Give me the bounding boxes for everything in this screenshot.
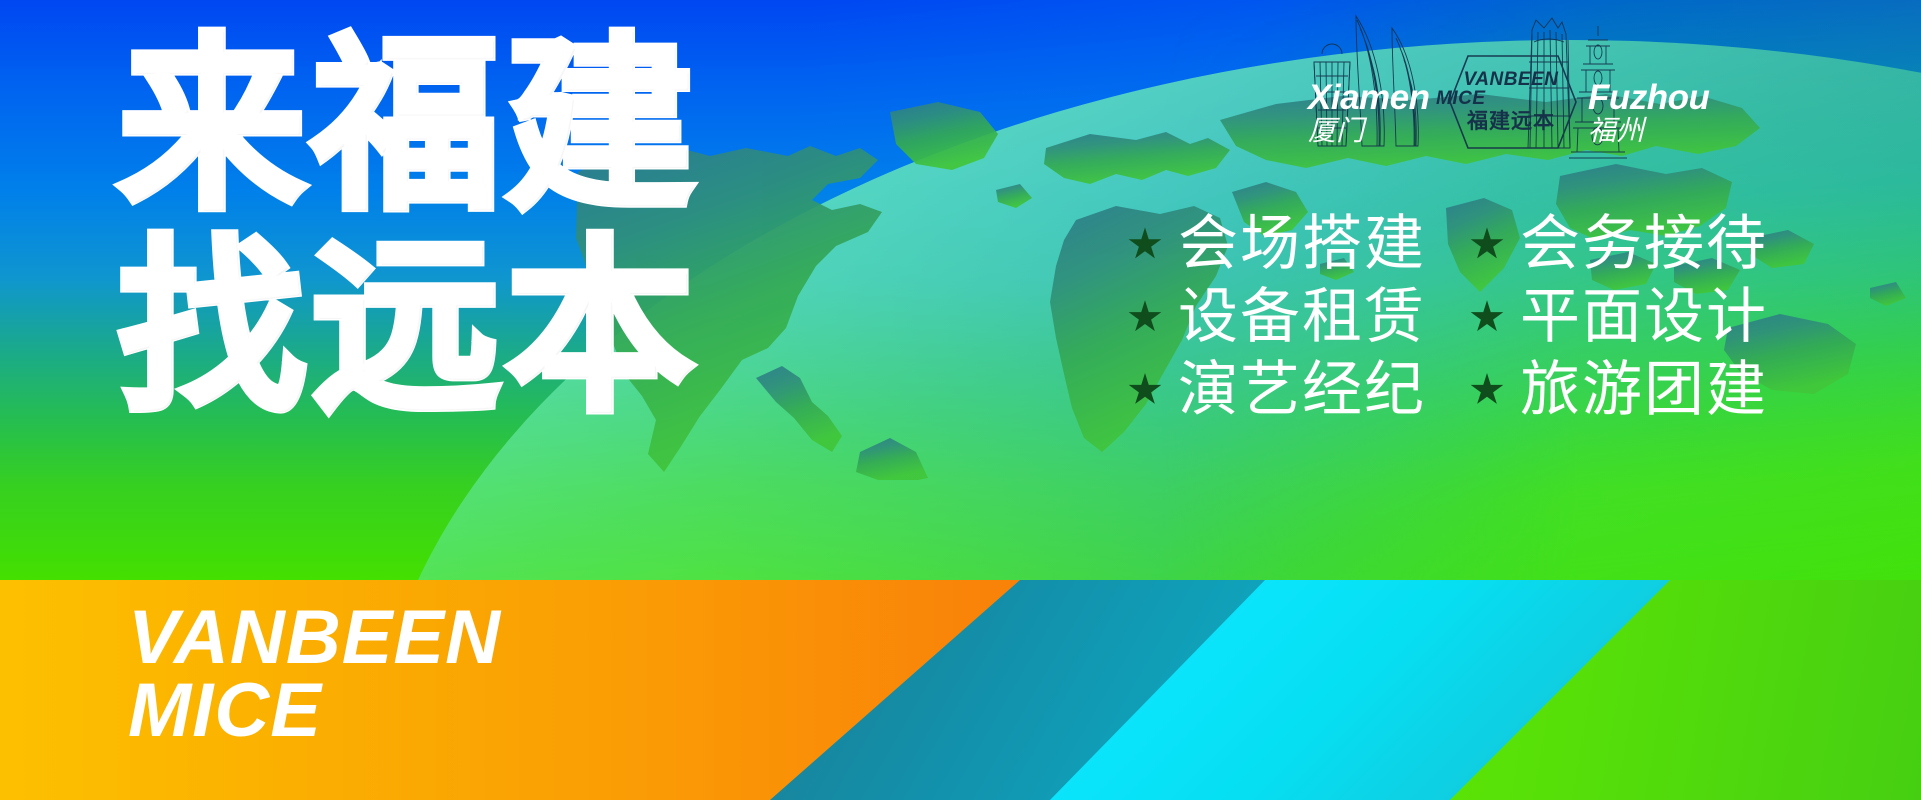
hexagon-brand-line-2: MICE: [1436, 89, 1486, 109]
bottom-brand-bar: VANBEEN MICE: [0, 580, 1921, 800]
headline-line-1: 来福建: [118, 34, 700, 218]
city-name-cn: 福州: [1588, 115, 1709, 147]
service-label: 演艺经纪: [1178, 358, 1426, 423]
star-icon: [1128, 227, 1162, 261]
bottom-brand-line-2: MICE: [128, 675, 501, 748]
service-item: 平面设计: [1470, 285, 1768, 350]
service-item: 演艺经纪: [1128, 358, 1426, 423]
star-icon: [1470, 373, 1504, 407]
star-icon: [1470, 300, 1504, 334]
service-item: 旅游团建: [1470, 358, 1768, 423]
hexagon-logo-content: VANBEEN MICE 福建远本: [1420, 54, 1602, 150]
service-label: 会务接待: [1520, 212, 1768, 277]
service-label: 旅游团建: [1520, 358, 1768, 423]
service-label: 平面设计: [1520, 285, 1768, 350]
bottom-brand-line-1: VANBEEN: [128, 602, 501, 675]
service-list: 会场搭建 会务接待 设备租赁 平面设计 演艺经纪 旅游团建: [1128, 212, 1768, 422]
service-item: 设备租赁: [1128, 285, 1426, 350]
headline-line-2: 找远本: [118, 236, 700, 420]
bottom-brand-wordmark: VANBEEN MICE: [128, 602, 501, 748]
service-item: 会务接待: [1470, 212, 1768, 277]
hexagon-brand-line-1: VANBEEN: [1464, 70, 1559, 89]
city-label-fuzhou: Fuzhou 福州: [1588, 80, 1709, 147]
service-item: 会场搭建: [1128, 212, 1426, 277]
promotional-banner: 来福建 找远本 会场搭建 会务接待 设备租赁 平面设计 演艺经纪 旅游团建: [0, 0, 1921, 800]
city-name-en: Xiamen: [1308, 80, 1430, 115]
city-name-cn: 厦门: [1308, 115, 1430, 147]
star-icon: [1470, 227, 1504, 261]
city-name-en: Fuzhou: [1588, 80, 1709, 115]
service-label: 会场搭建: [1178, 212, 1426, 277]
star-icon: [1128, 373, 1162, 407]
star-icon: [1128, 300, 1162, 334]
hexagon-brand-cn: 福建远本: [1467, 109, 1555, 134]
headline-block: 来福建 找远本: [118, 34, 700, 420]
city-label-xiamen: Xiamen 厦门: [1308, 80, 1430, 147]
service-label: 设备租赁: [1178, 285, 1426, 350]
city-logo-lockup: Xiamen 厦门 Fuzhou 福州 VANBEEN MICE 福建远本: [1300, 6, 1720, 174]
